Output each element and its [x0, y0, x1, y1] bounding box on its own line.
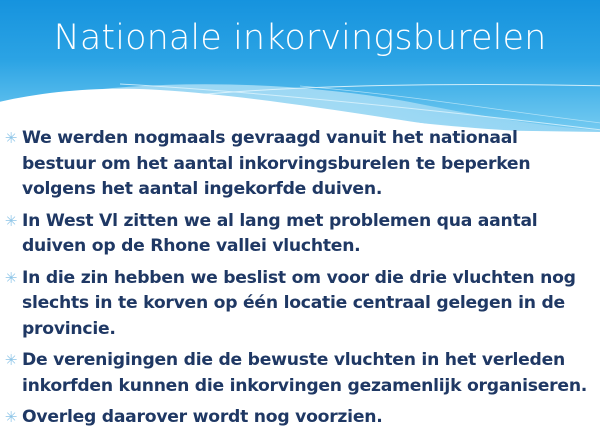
list-item: ✳ In West Vl zitten we al lang met probl… [0, 209, 600, 260]
slide-header-banner: Nationale inkorvingsburelen [0, 0, 600, 132]
bullet-text: In die zin hebben we beslist om voor die… [22, 266, 600, 343]
list-item: ✳ We werden nogmaals gevraagd vanuit het… [0, 126, 600, 203]
list-item: ✳ In die zin hebben we beslist om voor d… [0, 266, 600, 343]
list-item: ✳ De verenigingen die de bewuste vluchte… [0, 348, 600, 399]
slide-title: Nationale inkorvingsburelen [0, 16, 600, 60]
bullet-text: De verenigingen die de bewuste vluchten … [22, 348, 600, 399]
asterisk-bullet-icon: ✳ [0, 266, 22, 291]
asterisk-bullet-icon: ✳ [0, 348, 22, 373]
slide-bullet-list: ✳ We werden nogmaals gevraagd vanuit het… [0, 126, 600, 431]
asterisk-bullet-icon: ✳ [0, 405, 22, 430]
bullet-text: Overleg daarover wordt nog voorzien. [22, 405, 600, 431]
list-item: ✳ Overleg daarover wordt nog voorzien. [0, 405, 600, 431]
bullet-text: We werden nogmaals gevraagd vanuit het n… [22, 126, 600, 203]
presentation-slide: Nationale inkorvingsburelen ✳ We werden … [0, 0, 600, 447]
bullet-text: In West Vl zitten we al lang met problem… [22, 209, 600, 260]
asterisk-bullet-icon: ✳ [0, 209, 22, 234]
asterisk-bullet-icon: ✳ [0, 126, 22, 151]
